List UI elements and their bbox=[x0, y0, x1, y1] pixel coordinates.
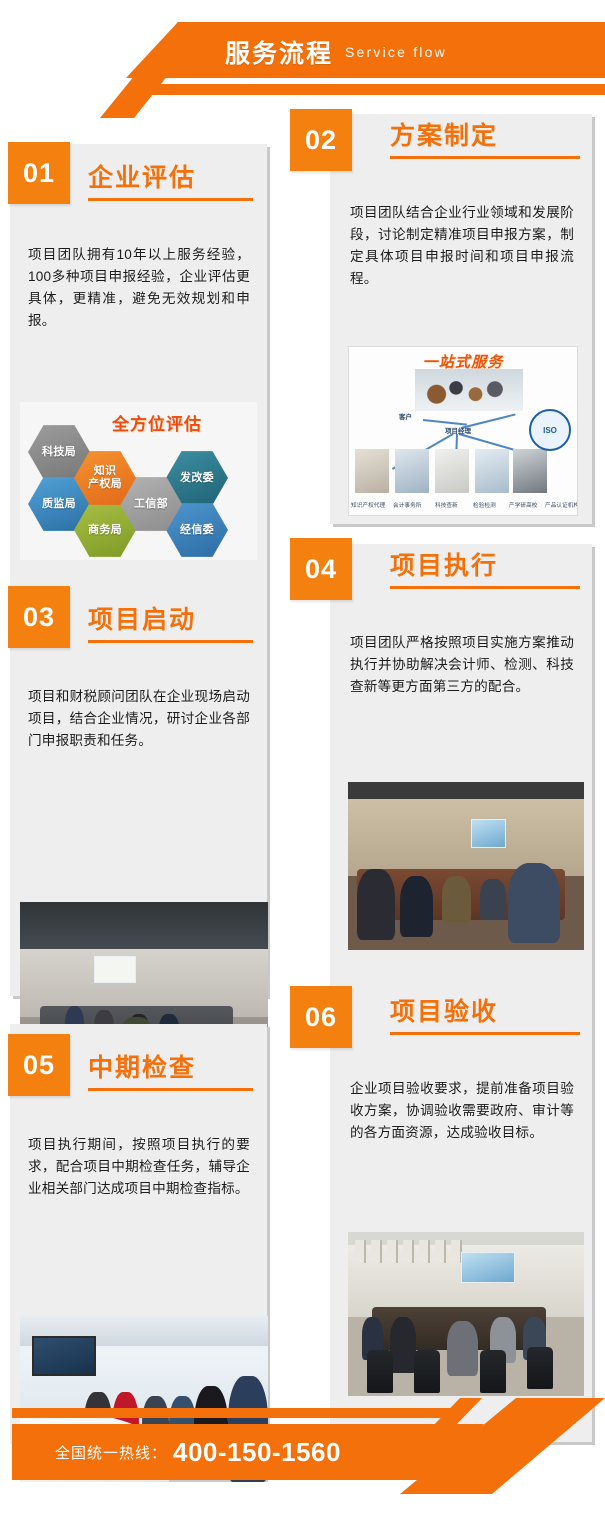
one-stop-service-diagram: 一站式服务 客户 项目经理 知识产权代理 会计事务所 科技查新 检验检测 产学研… bbox=[348, 346, 578, 516]
hotline-number[interactable]: 400-150-1560 bbox=[173, 1437, 341, 1468]
card-heading: 项目验收 bbox=[390, 1000, 580, 1035]
photo-whiteboard bbox=[94, 956, 136, 983]
card-description: 项目团队严格按照项目实施方案推动执行并协助解决会计师、检测、科技查新等更方面第三… bbox=[350, 632, 574, 698]
card-title: 中期检查 bbox=[88, 1056, 253, 1081]
card-heading: 方案制定 bbox=[390, 124, 580, 159]
photo-wall bbox=[348, 799, 584, 876]
card-title: 方案制定 bbox=[390, 124, 580, 149]
photo-person bbox=[508, 863, 560, 944]
page-title-cn: 服务流程 bbox=[225, 34, 333, 70]
step-number-badge: 05 bbox=[8, 1034, 70, 1096]
branch-label-ip-agency: 知识产权代理 bbox=[351, 501, 385, 509]
card-heading: 企业评估 bbox=[88, 166, 253, 201]
step-number-badge: 01 bbox=[8, 142, 70, 204]
photo-working-session bbox=[348, 782, 584, 950]
branch-thumb-university bbox=[513, 449, 547, 493]
branch-thumb-ip-agency bbox=[355, 449, 389, 493]
photo-display-screen bbox=[32, 1336, 96, 1377]
card-title: 企业评估 bbox=[88, 166, 253, 191]
node-label-project-manager: 项目经理 bbox=[445, 425, 471, 435]
one-stop-service-title: 一站式服务 bbox=[422, 351, 503, 372]
card-heading: 项目启动 bbox=[88, 608, 253, 643]
header-thin-stripe bbox=[0, 84, 605, 95]
branch-label-university: 产学研高校 bbox=[509, 501, 537, 509]
photo-chair bbox=[367, 1350, 393, 1393]
photo-projection-screen bbox=[461, 1252, 515, 1284]
card-description: 项目执行期间，按照项目执行的要求，配合项目中期检查任务，辅导企业相关部门达成项目… bbox=[28, 1134, 250, 1200]
card-heading: 中期检查 bbox=[88, 1056, 253, 1091]
card-description: 项目和财税顾问团队在企业现场启动项目，结合企业情况，研讨企业各部门申报职责和任务… bbox=[28, 686, 250, 752]
infographic-page: 服务流程 Service flow 01 企业评估 项目团队拥有10年以上服务经… bbox=[0, 0, 605, 1538]
photo-chair bbox=[527, 1347, 553, 1390]
photo-chair bbox=[414, 1350, 440, 1393]
certification-seal-icon: ISO bbox=[529, 409, 571, 451]
title-underline bbox=[88, 198, 253, 201]
title-underline bbox=[390, 1032, 580, 1035]
card-title: 项目验收 bbox=[390, 1000, 580, 1025]
process-card-02: 02 方案制定 项目团队结合企业行业领域和发展阶段，讨论制定精准项目申报方案，制… bbox=[330, 114, 592, 524]
hexagon-diagram-title: 全方位评估 bbox=[112, 410, 202, 435]
photo-content bbox=[348, 782, 584, 950]
photo-person bbox=[400, 876, 433, 936]
photo-person bbox=[447, 1321, 478, 1377]
branch-label-inspection: 检验检测 bbox=[473, 501, 496, 509]
hexagon-assessment-diagram: 全方位评估 科技局 知识产权局 质监局 工信部 商务局 发改委 经信委 bbox=[20, 402, 257, 560]
title-underline bbox=[88, 1088, 253, 1091]
process-card-04: 04 项目执行 项目团队严格按照项目实施方案推动执行并协助解决会计师、检测、科技… bbox=[330, 544, 592, 994]
page-header: 服务流程 Service flow bbox=[0, 0, 605, 118]
branch-label-certification: 产品认证机构 bbox=[545, 501, 578, 509]
photo-person bbox=[442, 876, 470, 923]
step-number-badge: 04 bbox=[290, 538, 352, 600]
photo-person bbox=[390, 1317, 416, 1373]
meeting-photo-thumbnail bbox=[415, 369, 523, 411]
title-underline bbox=[390, 586, 580, 589]
photo-ceiling bbox=[348, 782, 584, 799]
card-description: 项目团队拥有10年以上服务经验，100多种项目申报经验，企业评估更具体，更精准，… bbox=[28, 244, 250, 332]
page-title-en: Service flow bbox=[345, 44, 447, 60]
process-card-06: 06 项目验收 企业项目验收要求，提前准备项目验收方案，协调验收需要政府、审计等… bbox=[330, 992, 592, 1442]
page-title: 服务流程 Service flow bbox=[225, 30, 447, 74]
step-number-badge: 02 bbox=[290, 109, 352, 171]
branch-thumb-accounting bbox=[395, 449, 429, 493]
title-underline bbox=[88, 640, 253, 643]
card-title: 项目执行 bbox=[390, 554, 580, 579]
photo-ceiling bbox=[20, 902, 268, 949]
branch-thumb-inspection bbox=[475, 449, 509, 493]
card-heading: 项目执行 bbox=[390, 554, 580, 589]
hotline-label: 全国统一热线： bbox=[55, 1442, 167, 1463]
step-number-badge: 06 bbox=[290, 986, 352, 1048]
photo-wall-certificates bbox=[355, 1240, 464, 1263]
photo-conference-room bbox=[348, 1232, 584, 1396]
title-underline bbox=[390, 156, 580, 159]
photo-person bbox=[480, 879, 506, 919]
node-label-customer: 客户 bbox=[399, 411, 412, 421]
photo-content bbox=[348, 1232, 584, 1396]
process-card-05: 05 中期检查 项目执行期间，按照项目执行的要求，配合项目中期检查任务，辅导企业… bbox=[10, 1024, 267, 1444]
page-footer: 全国统一热线： 400-150-1560 bbox=[0, 1398, 605, 1538]
photo-chair bbox=[480, 1350, 506, 1393]
process-card-03: 03 项目启动 项目和财税顾问团队在企业现场启动项目，结合企业情况，研讨企业各部… bbox=[10, 574, 267, 996]
step-number-badge: 03 bbox=[8, 586, 70, 648]
process-card-01: 01 企业评估 项目团队拥有10年以上服务经验，100多种项目申报经验，企业评估… bbox=[10, 144, 267, 574]
card-description: 企业项目验收要求，提前准备项目验收方案，协调验收需要政府、审计等的各方面资源，达… bbox=[350, 1078, 574, 1144]
branch-thumb-tech-search bbox=[435, 449, 469, 493]
card-title: 项目启动 bbox=[88, 608, 253, 633]
branch-label-accounting: 会计事务所 bbox=[393, 501, 421, 509]
branch-label-tech-search: 科技查新 bbox=[435, 501, 458, 509]
process-card-grid: 01 企业评估 项目团队拥有10年以上服务经验，100多种项目申报经验，企业评估… bbox=[0, 104, 605, 1394]
card-description: 项目团队结合企业行业领域和发展阶段，讨论制定精准项目申报方案，制定具体项目申报时… bbox=[350, 202, 574, 290]
photo-person bbox=[357, 869, 395, 940]
hotline-block: 全国统一热线： 400-150-1560 bbox=[55, 1424, 341, 1480]
photo-laptop bbox=[471, 819, 506, 848]
